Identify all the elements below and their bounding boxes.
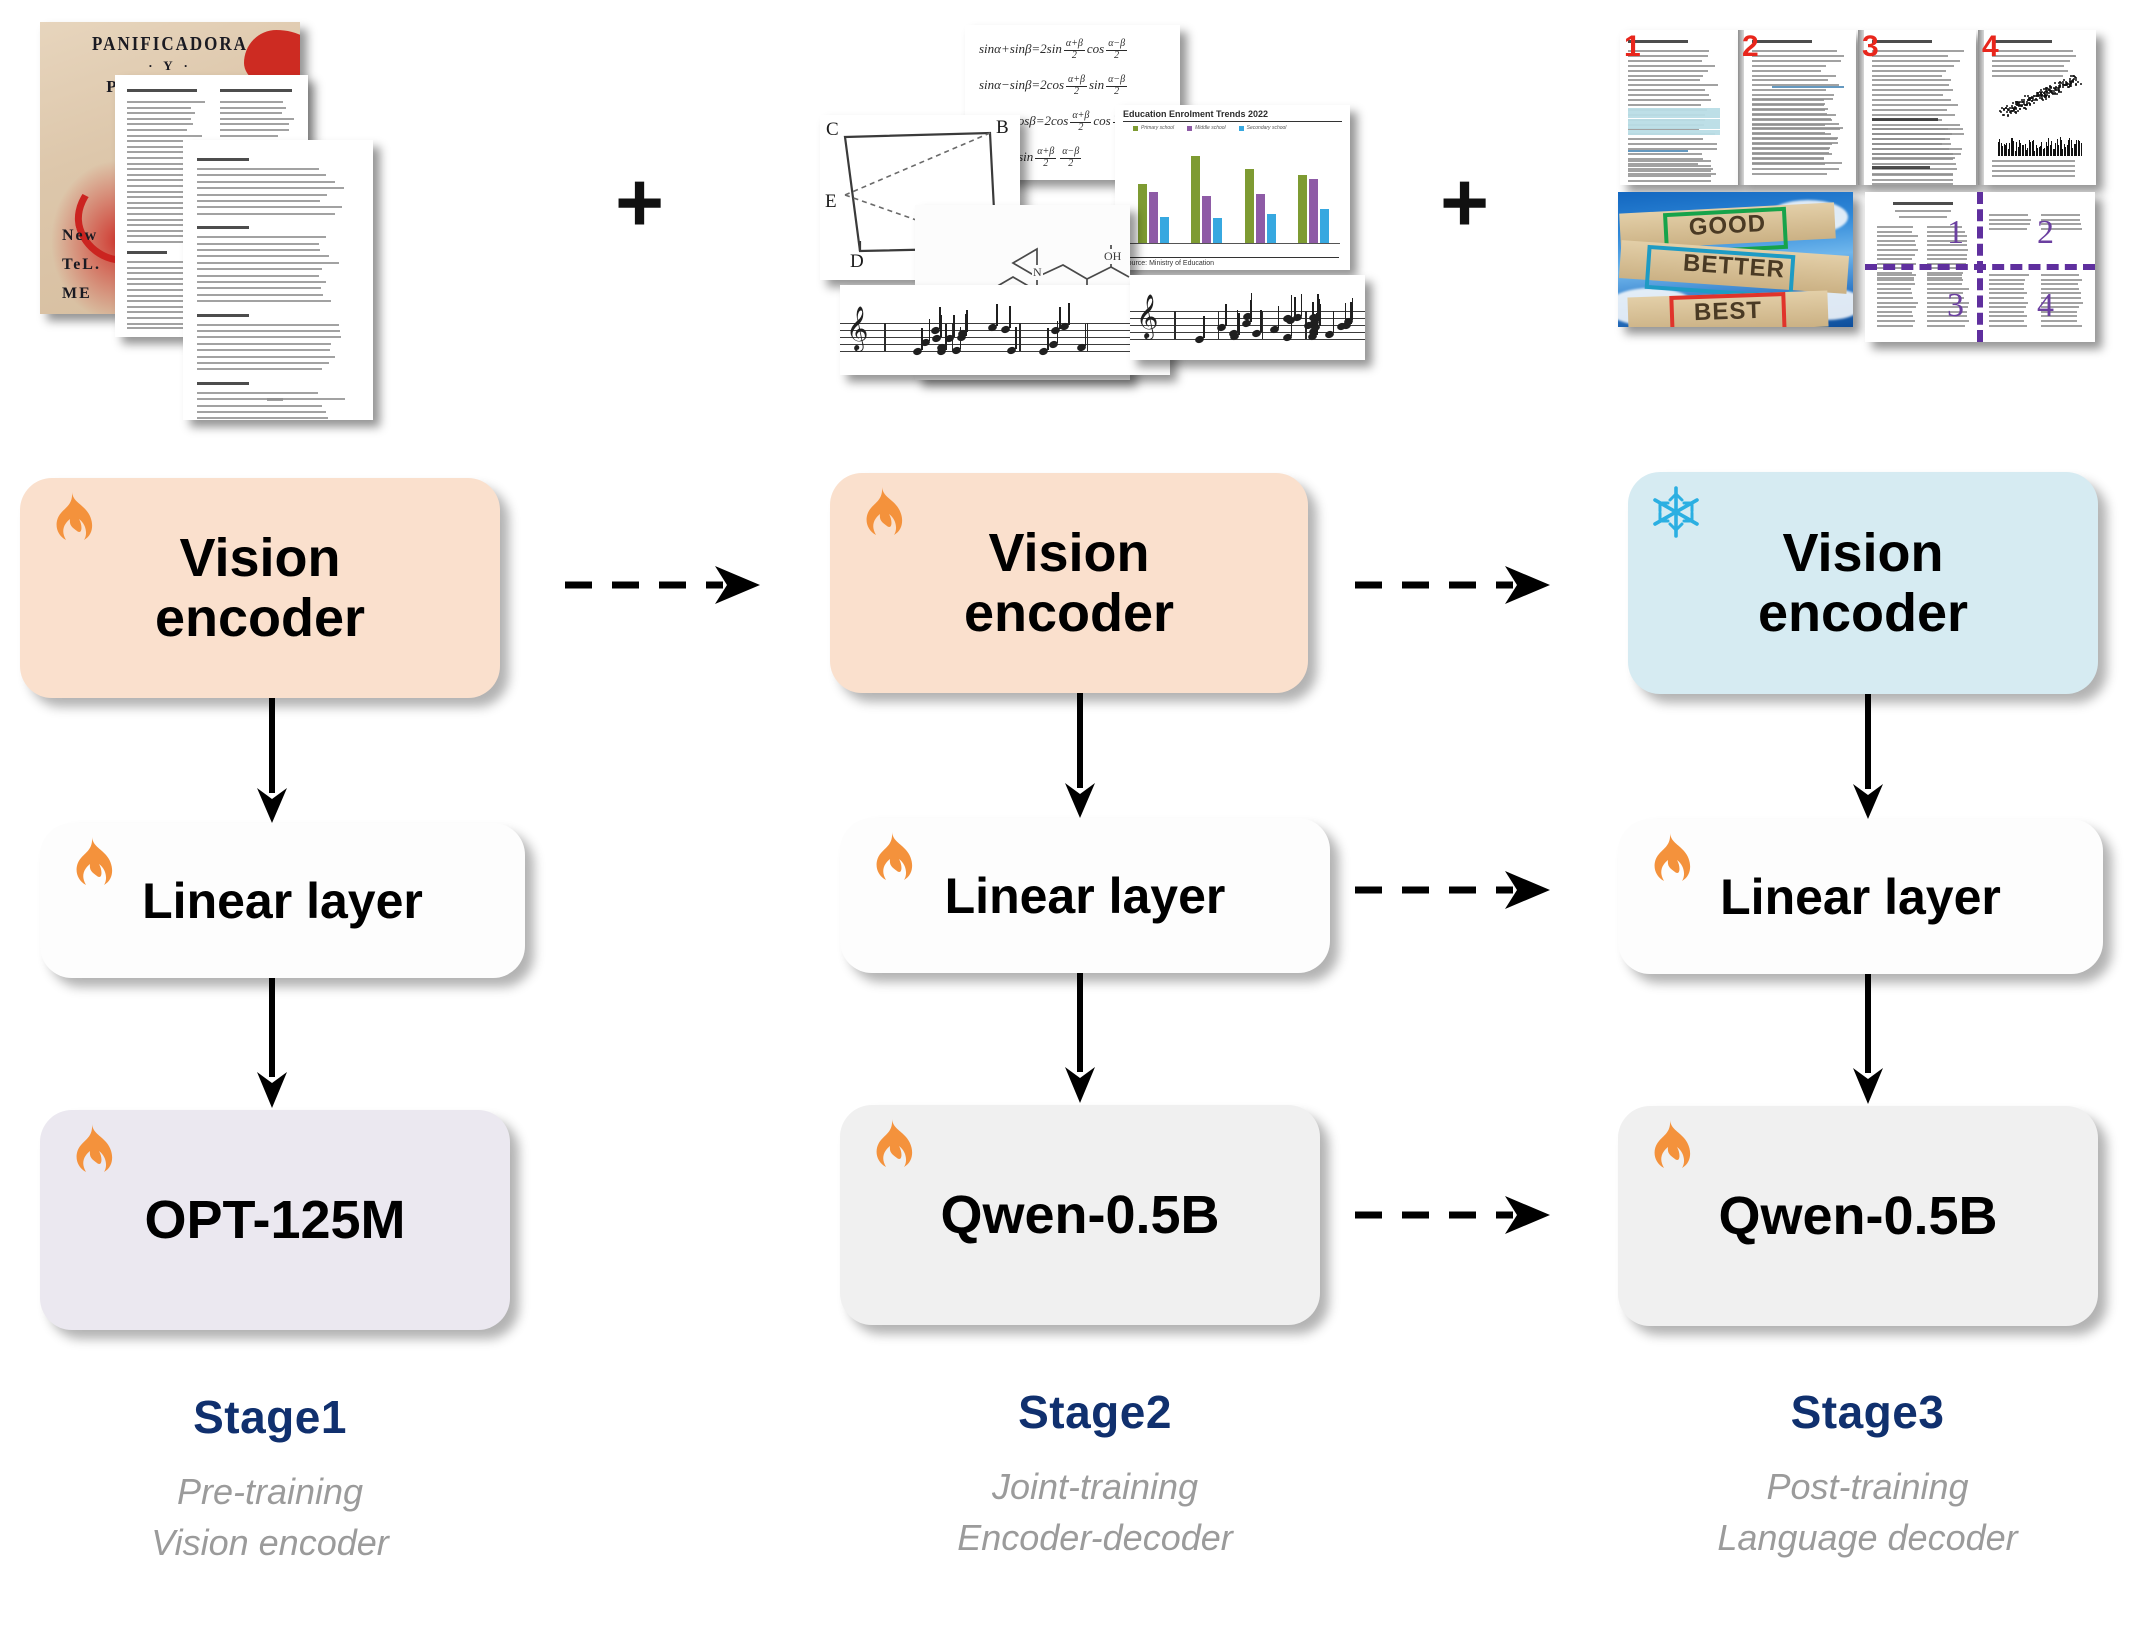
- scatter-point: [2049, 85, 2051, 87]
- text-line: [1628, 150, 1688, 152]
- flame-icon: [62, 1122, 114, 1178]
- text-line: [1752, 113, 1827, 115]
- text-line: [197, 382, 249, 385]
- scatter-point: [2052, 93, 2054, 95]
- text-line: [1628, 108, 1720, 113]
- geo-label-c: C: [826, 119, 839, 141]
- staff-line: [840, 344, 1170, 345]
- scatter-point: [2080, 83, 2082, 85]
- stage3-title: Stage3: [1595, 1385, 2140, 1439]
- text-line: [1927, 283, 1962, 285]
- text-line: [1872, 128, 1948, 130]
- arrow-stage2-to-stage3-linear: [1355, 865, 1555, 915]
- bar-chart-thumbnail: Education Enrolment Trends 2022 Primary …: [1115, 105, 1350, 270]
- text-line: [1872, 79, 1951, 81]
- text-line: [1872, 148, 1949, 150]
- text-line: [1872, 60, 1960, 62]
- text-line: [127, 101, 205, 103]
- snowflake-icon: [1650, 484, 1702, 540]
- bar: [1138, 184, 1147, 243]
- text-line: [1872, 166, 1930, 169]
- stage2-vision-encoder-label: Vision encoder: [950, 523, 1188, 644]
- text-line: [1628, 75, 1703, 77]
- text-line: [197, 168, 319, 170]
- stage1-arrow-linear-to-llm: [252, 978, 292, 1108]
- bar-group: [1245, 169, 1276, 243]
- text-line: [127, 317, 187, 319]
- scatter-point: [2017, 110, 2019, 112]
- text-line: [1752, 94, 1834, 96]
- text-line: [1628, 138, 1703, 140]
- text-line: [220, 135, 278, 137]
- flame-icon: [852, 485, 904, 541]
- text-line: [1872, 153, 1961, 155]
- note-stem: [1291, 295, 1293, 317]
- note-stem: [1047, 328, 1049, 350]
- stage2-title: Stage2: [795, 1385, 1395, 1439]
- text-line: [1628, 65, 1715, 67]
- numbered-doc-page-1: 1: [1620, 30, 1738, 185]
- geo-label-e: E: [825, 191, 837, 213]
- text-line: [1628, 79, 1700, 81]
- text-line: [197, 268, 322, 270]
- text-line: [1628, 89, 1705, 91]
- stage3-arrow-linear-to-llm: [1848, 974, 1888, 1104]
- quadrant-number-2: 2: [2037, 214, 2054, 252]
- text-line: [1877, 302, 1918, 304]
- bar: [1191, 156, 1200, 243]
- bar-chart-title: Education Enrolment Trends 2022: [1123, 109, 1342, 122]
- atom-N2: N: [1032, 265, 1043, 280]
- text-line: [1752, 118, 1831, 120]
- text-line: [127, 295, 188, 297]
- text-line: [127, 118, 191, 120]
- scatter-point: [2015, 101, 2017, 103]
- stage-column-2: sinα+sinβ=2sinα+β2cosα−β2 sinα−sinβ=2cos…: [830, 0, 1430, 1636]
- text-line: [1872, 114, 1955, 116]
- treble-clef-icon: 𝄞: [1136, 297, 1158, 335]
- text-line: [1927, 279, 1963, 281]
- note-stem: [960, 327, 962, 349]
- staff-line: [1130, 339, 1365, 340]
- text-line: [1872, 183, 1953, 185]
- stage2-arrow-linear-to-llm: [1060, 973, 1100, 1103]
- text-line: [1872, 174, 1953, 176]
- stage-column-3: 1 2 3 4 GOOD BETTER: [1610, 0, 2155, 1636]
- text-line: [1752, 127, 1843, 129]
- stage1-linear-layer-box[interactable]: Linear layer: [40, 823, 525, 978]
- stage2-caption: Stage2 Joint-training Encoder-decoder: [795, 1385, 1395, 1563]
- scatter-point: [2062, 86, 2064, 88]
- text-line: [1989, 274, 2029, 276]
- text-line: [1628, 113, 1720, 118]
- text-line: [197, 314, 249, 317]
- plus-operator-2: +: [1440, 160, 1489, 244]
- text-line: [127, 89, 197, 92]
- text-line: [1628, 170, 1711, 172]
- text-line: [1872, 118, 1938, 121]
- note-stem: [953, 315, 955, 337]
- text-line: [127, 112, 195, 114]
- bar: [1149, 192, 1158, 243]
- text-line: [127, 323, 189, 325]
- note-stem: [1319, 304, 1321, 326]
- text-line: [197, 411, 326, 413]
- text-line: [1927, 258, 1967, 260]
- bar: [1245, 169, 1254, 243]
- text-line: [197, 194, 327, 196]
- bar-group: [1191, 156, 1222, 243]
- text-line: [1752, 55, 1844, 57]
- legend-item-0: Primary school: [1133, 125, 1174, 131]
- stage3-language-model-label: Qwen-0.5B: [1704, 1185, 2011, 1247]
- text-line: [1872, 143, 1951, 145]
- text-line: [1992, 160, 2075, 162]
- note-stem: [1250, 300, 1252, 322]
- text-line: [197, 349, 330, 351]
- stage1-input-cluster: PANIFICADORA · Y · PASTELERIA CE New TeL…: [0, 0, 600, 470]
- scatter-point: [2023, 99, 2025, 101]
- quadrant-split-document: 1 2 3 4: [1865, 192, 2095, 342]
- text-line: [1628, 104, 1701, 106]
- stage1-caption: Stage1 Pre-training Vision encoder: [0, 1390, 570, 1568]
- numbered-doc-page-3: 3: [1858, 30, 1976, 185]
- note-stem: [1352, 298, 1354, 320]
- text-line: [1872, 99, 1951, 101]
- text-line: [1989, 325, 2027, 327]
- text-line: [1877, 244, 1916, 246]
- note-stem: [996, 304, 998, 326]
- text-line: [197, 243, 319, 245]
- text-line: [197, 398, 345, 400]
- geo-label-b: B: [996, 117, 1009, 139]
- stage3-vision-encoder-box[interactable]: Vision encoder: [1628, 472, 2098, 694]
- text-line: [1877, 315, 1913, 317]
- text-line: [1628, 160, 1711, 162]
- text-line: [1872, 163, 1956, 165]
- numbered-doc-page-4: 4: [1978, 30, 2096, 185]
- scatter-point: [2059, 84, 2061, 86]
- text-line: [1989, 288, 2024, 290]
- flame-icon: [862, 830, 914, 886]
- stage1-subtitle-line2: Vision encoder: [0, 1517, 570, 1568]
- stage1-language-model-box[interactable]: OPT-125M: [40, 1110, 510, 1330]
- text-line: [1752, 89, 1826, 91]
- stage3-caption: Stage3 Post-training Language decoder: [1595, 1385, 2140, 1563]
- text-line: [1628, 94, 1709, 96]
- text-line: [2041, 274, 2079, 276]
- text-line: [1877, 288, 1911, 290]
- stage2-language-model-label: Qwen-0.5B: [926, 1184, 1233, 1246]
- text-line: [1877, 311, 1912, 313]
- bar: [1202, 196, 1211, 243]
- text-line: [220, 112, 282, 114]
- text-line: [1877, 235, 1918, 237]
- text-line: [1992, 170, 2075, 172]
- scatter-point: [2054, 82, 2056, 84]
- plus-operator-1: +: [615, 160, 664, 244]
- geo-label-d: D: [850, 251, 864, 273]
- text-line: [1895, 210, 1951, 212]
- encoder-label-line2: encoder: [964, 583, 1174, 643]
- text-line: [1752, 157, 1824, 159]
- note-stem: [1203, 316, 1205, 338]
- flame-icon: [62, 835, 114, 891]
- staff-line: [840, 337, 1170, 338]
- note-stem: [1333, 311, 1335, 333]
- text-line: [1872, 124, 1960, 126]
- text-line: [1992, 165, 2075, 167]
- text-line: [220, 129, 289, 131]
- note-stem: [921, 328, 923, 350]
- text-line: [197, 324, 339, 326]
- text-line: [1752, 65, 1826, 67]
- bar: [1298, 175, 1307, 243]
- text-line: [197, 226, 249, 229]
- staff-line: [1130, 311, 1365, 312]
- text-line: [1992, 70, 2068, 72]
- doc-number-2: 2: [1742, 32, 1759, 62]
- text-line: [197, 206, 342, 208]
- text-line: [1872, 133, 1952, 135]
- text-line: [1752, 50, 1837, 52]
- text-line: [1989, 292, 2027, 294]
- sheet-music-score-right: 𝄞: [1130, 275, 1365, 360]
- encoder-label-line2: encoder: [1758, 583, 1968, 643]
- text-line: [1872, 70, 1946, 72]
- text-line: [220, 89, 292, 92]
- text-line: [1872, 157, 1955, 159]
- text-line: [1752, 70, 1821, 72]
- scatter-point: [2007, 115, 2009, 117]
- bar: [1267, 214, 1276, 243]
- note-stem: [1085, 324, 1087, 346]
- stage1-linear-layer-label: Linear layer: [128, 872, 437, 930]
- note-stem: [1068, 303, 1070, 325]
- scatter-point: [2029, 104, 2031, 106]
- note-stem: [1009, 306, 1011, 328]
- encoder-label-line2: encoder: [155, 588, 365, 648]
- text-line: [197, 362, 329, 364]
- stage1-subtitle-line1: Pre-training: [0, 1466, 570, 1517]
- numbered-doc-page-2: 2: [1738, 30, 1856, 185]
- text-line: [1628, 165, 1711, 167]
- text-line: [1989, 219, 2031, 221]
- text-line: [1877, 279, 1914, 281]
- text-line: [1877, 325, 1913, 327]
- text-line: [1752, 168, 1839, 170]
- scatter-point: [2011, 105, 2013, 107]
- flame-icon: [1640, 1118, 1692, 1174]
- bar: [1256, 194, 1265, 243]
- text-line: [197, 213, 335, 215]
- stage2-vision-encoder-box[interactable]: Vision encoder: [830, 473, 1308, 693]
- stage3-subtitle-line1: Post-training: [1595, 1461, 2140, 1512]
- poster-y-mark: · Y ·: [40, 58, 300, 74]
- flame-icon: [862, 1117, 914, 1173]
- text-line: [1628, 70, 1708, 72]
- bar-line: [1019, 323, 1021, 351]
- text-line: [220, 101, 283, 103]
- text-line: [1752, 162, 1842, 164]
- stage1-vision-encoder-box[interactable]: Vision encoder: [20, 478, 500, 698]
- text-line: [220, 107, 286, 109]
- text-line: [1989, 223, 2030, 225]
- text-line: [197, 281, 326, 283]
- scatter-point: [2045, 98, 2047, 100]
- stage2-input-cluster: sinα+sinβ=2sinα+β2cosα−β2 sinα−sinβ=2cos…: [830, 0, 1430, 470]
- encoder-label-line1: Vision: [1782, 523, 1943, 583]
- quadrant-number-3: 3: [1947, 287, 1964, 325]
- note-stem: [1015, 327, 1017, 349]
- arrow-stage1-to-stage2-encoder: [565, 560, 765, 610]
- poster-title-arc: PANIFICADORA: [40, 33, 300, 56]
- text-line: [1877, 320, 1915, 322]
- sheet-music-score: 𝄞: [840, 285, 1170, 375]
- text-line: [127, 129, 187, 131]
- text-line: [1992, 75, 2063, 77]
- text-line: [197, 417, 328, 419]
- text-line: [1877, 254, 1915, 256]
- bar-chart-source: Source: Ministry of Education: [1123, 257, 1339, 267]
- text-line: [197, 174, 326, 176]
- text-line: [197, 249, 320, 251]
- encoder-label-line1: Vision: [988, 523, 1149, 583]
- scatter-point: [2028, 102, 2030, 104]
- text-line: [1628, 99, 1711, 101]
- note-stem: [1225, 304, 1227, 326]
- text-line: [1872, 84, 1949, 86]
- stage3-linear-layer-box[interactable]: Linear layer: [1618, 819, 2103, 974]
- text-line: [197, 336, 341, 338]
- scatter-point: [2029, 99, 2031, 101]
- text-line: [1877, 240, 1915, 242]
- scatter-point: [2024, 104, 2026, 106]
- text-line: [1899, 216, 1947, 218]
- text-line: [2041, 283, 2078, 285]
- text-line: [1989, 311, 2024, 313]
- text-line: [197, 158, 249, 161]
- text-line: [1628, 143, 1717, 145]
- text-line: [1877, 292, 1912, 294]
- stage2-linear-layer-box[interactable]: Linear layer: [840, 818, 1330, 973]
- scatter-point: [2019, 108, 2021, 110]
- text-line: [1872, 75, 1942, 77]
- scatter-point: [2053, 90, 2055, 92]
- note-stem: [966, 310, 968, 332]
- scatter-point: [2048, 96, 2050, 98]
- scatter-point: [2031, 97, 2033, 99]
- doc-number-1: 1: [1624, 32, 1641, 62]
- signal-plot: [1996, 126, 2084, 156]
- scatter-point: [2006, 111, 2008, 113]
- text-line: [1752, 152, 1829, 154]
- text-line: [1877, 231, 1912, 233]
- scatter-point: [2012, 110, 2014, 112]
- text-line: [1872, 138, 1945, 140]
- stage3-arrow-encoder-to-linear: [1848, 694, 1888, 819]
- note-stem: [1312, 302, 1314, 324]
- text-line: [127, 123, 193, 125]
- text-line: [127, 235, 186, 237]
- text-line: [197, 236, 326, 238]
- text-line: [1877, 226, 1913, 228]
- text-line: [1877, 258, 1912, 260]
- text-line: [1989, 297, 2024, 299]
- stage1-title: Stage1: [0, 1390, 570, 1444]
- scatter-point: [2060, 91, 2062, 93]
- text-line: [197, 181, 335, 183]
- text-line: [197, 405, 322, 407]
- arrow-stage2-to-stage3-llm: [1355, 1190, 1555, 1240]
- text-line: [1752, 103, 1825, 105]
- text-line: [1872, 104, 1958, 106]
- encoder-label-line1: Vision: [179, 528, 340, 588]
- text-line: [1872, 65, 1954, 67]
- text-line: [127, 272, 192, 274]
- text-line: [127, 300, 190, 302]
- text-line: [1628, 175, 1711, 177]
- stage3-language-model-box[interactable]: Qwen-0.5B: [1618, 1106, 2098, 1326]
- bar-line: [1174, 311, 1176, 339]
- text-line: [127, 107, 191, 109]
- stage2-language-model-box[interactable]: Qwen-0.5B: [840, 1105, 1320, 1325]
- text-line: [1752, 147, 1830, 149]
- flame-icon: [1640, 831, 1692, 887]
- text-line: [1872, 55, 1948, 57]
- scatter-point: [2000, 111, 2002, 113]
- atom-OH: OH: [1103, 249, 1122, 264]
- good-better-best-signpost: GOOD BETTER BEST: [1618, 192, 1853, 327]
- text-line: [127, 135, 202, 137]
- staff-line: [840, 323, 1170, 324]
- text-line: [1628, 119, 1720, 124]
- text-line: [1927, 254, 1967, 256]
- text-line: [1752, 98, 1833, 100]
- text-line: [1872, 94, 1943, 96]
- text-line: [1992, 40, 2052, 43]
- text-line: [1989, 279, 2025, 281]
- legend-item-2: Secondary school: [1239, 125, 1287, 131]
- stage2-subtitle-line2: Encoder-decoder: [795, 1512, 1395, 1563]
- scatter-point: [2068, 86, 2070, 88]
- text-line: [1989, 302, 2028, 304]
- bar-group: [1298, 175, 1329, 243]
- scatter-point: [2025, 108, 2027, 110]
- bar: [1160, 217, 1169, 243]
- text-line: [1927, 274, 1962, 276]
- doc-number-3: 3: [1862, 32, 1879, 62]
- text-line: [1628, 84, 1718, 86]
- stage3-subtitle-line2: Language decoder: [1595, 1512, 2140, 1563]
- text-line: [127, 230, 187, 232]
- text-line: [1752, 79, 1828, 81]
- scatter-point: [2001, 107, 2003, 109]
- text-line: [197, 330, 340, 332]
- text-line: [1872, 40, 1932, 43]
- text-line: [1628, 130, 1720, 135]
- text-line: [1872, 89, 1953, 91]
- text-line: [1989, 228, 2027, 230]
- arrow-stage2-to-stage3-encoder: [1355, 560, 1555, 610]
- text-line: [1989, 315, 2027, 317]
- stage3-linear-layer-label: Linear layer: [1706, 868, 2015, 926]
- text-line: [197, 187, 344, 189]
- text-line: [197, 300, 331, 302]
- scatter-point: [2035, 98, 2037, 100]
- text-line: [1752, 137, 1838, 139]
- signal-spike: [2081, 143, 2082, 156]
